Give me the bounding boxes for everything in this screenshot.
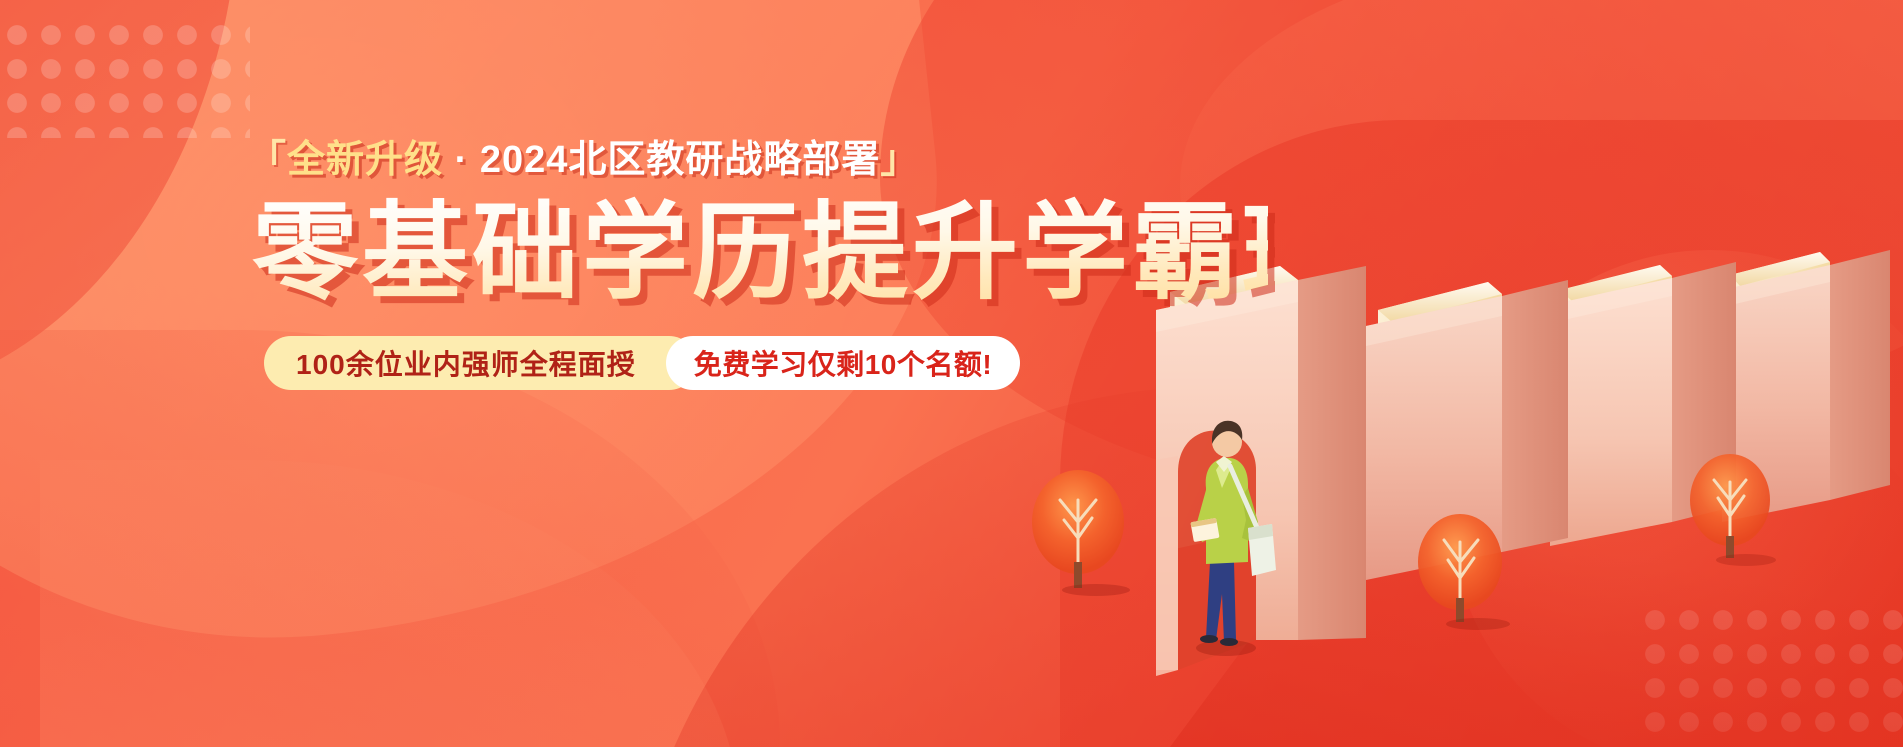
teachers-pill[interactable]: 100余位业内强师全程面授 (264, 336, 696, 390)
quota-pill[interactable]: 免费学习仅剩10个名额! (666, 336, 1020, 390)
bracket-open: 「 (248, 139, 287, 181)
subtitle-highlight: 全新升级 (287, 139, 443, 181)
bracket-close: 」 (880, 139, 919, 181)
subtitle-main: 2024北区教研战略部署 (480, 139, 881, 181)
banner-subtitle: 「全新升级 · 2024北区教研战略部署」 (248, 140, 1268, 182)
banner-badge-row: 100余位业内强师全程面授 免费学习仅剩10个名额! (264, 336, 1268, 390)
banner-headline: 零基础学历提升学霸班 (252, 196, 1268, 310)
subtitle-separator: · (443, 139, 480, 181)
dot-grid-icon-top-left (0, 18, 250, 138)
promo-banner: 「全新升级 · 2024北区教研战略部署」 零基础学历提升学霸班 100余位业内… (0, 0, 1903, 747)
banner-text-block: 「全新升级 · 2024北区教研战略部署」 零基础学历提升学霸班 100余位业内… (248, 140, 1268, 390)
